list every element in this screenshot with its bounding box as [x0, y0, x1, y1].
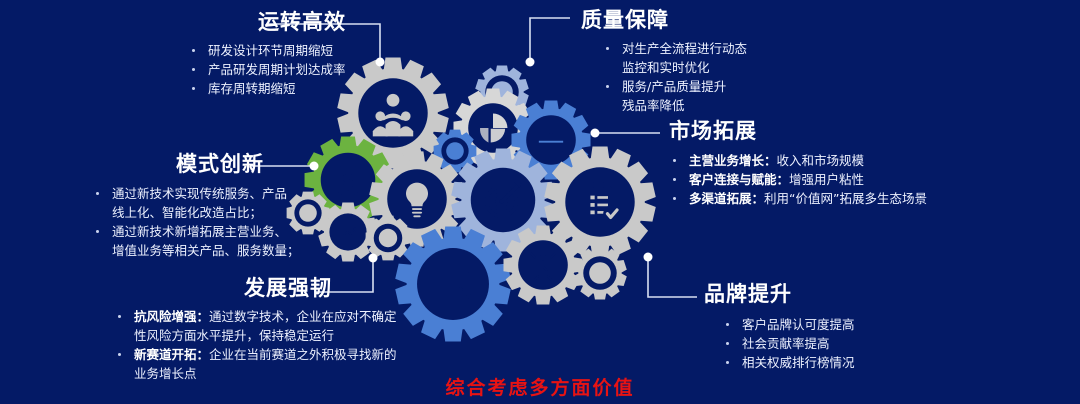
list-item: 新赛道开拓：企业在当前赛道之外积极寻找新的 [112, 346, 397, 363]
infographic-canvas: $ [0, 0, 1080, 404]
svg-text:$: $ [341, 169, 355, 193]
list-item-lead: 新赛道开拓： [134, 347, 209, 362]
section-operation-heading: 运转高效 [258, 6, 346, 36]
list-item: 研发设计环节周期缩短 [186, 42, 346, 59]
section-quality-heading: 质量保障 [581, 4, 747, 34]
wallet-icon [395, 227, 511, 342]
mini-gear-right [573, 246, 627, 299]
section-model-bullets: 通过新技术实现传统服务、产品线上化、智能化改造占比；通过新技术新增拓展主营业务、… [90, 185, 300, 259]
section-operation: 运转高效 研发设计环节周期缩短产品研发周期计划达成率库存周转期缩短 [172, 6, 346, 99]
list-item: 增值业务等相关产品、服务数量； [90, 242, 300, 259]
list-item: 监控和实时优化 [600, 59, 747, 76]
list-item: 客户连接与赋能：增强用户粘性 [667, 171, 927, 188]
list-item: 多渠道拓展：利用“价值网”拓展多生态场景 [667, 190, 927, 207]
mini-gear-mid [366, 216, 411, 261]
list-item: 残品率降低 [600, 97, 747, 114]
section-resilient: 发展强韧 抗风险增强：通过数字技术，企业在应对不确定性风险方面水平提升，保持稳定… [104, 272, 397, 384]
list-item: 对生产全流程进行动态 [600, 40, 747, 57]
list-item-lead: 主营业务增长： [689, 153, 777, 168]
section-brand: 品牌提升 客户品牌认可度提高社会贡献率提高相关权威排行榜情况 [700, 278, 855, 373]
list-item-lead: 抗风险增强： [134, 309, 209, 324]
section-model: 模式创新 通过新技术实现传统服务、产品线上化、智能化改造占比；通过新技术新增拓展… [80, 148, 300, 261]
section-quality: 质量保障 对生产全流程进行动态监控和实时优化服务/产品质量提升残品率降低 [576, 4, 747, 116]
list-item-lead: 客户连接与赋能： [689, 172, 789, 187]
list-item: 相关权威排行榜情况 [720, 354, 855, 371]
section-operation-bullets: 研发设计环节周期缩短产品研发周期计划达成率库存周转期缩短 [186, 42, 346, 97]
section-brand-bullets: 客户品牌认可度提高社会贡献率提高相关权威排行榜情况 [720, 316, 855, 371]
list-item: 通过新技术实现传统服务、产品 [90, 185, 300, 202]
section-market-bullets: 主营业务增长：收入和市场规模客户连接与赋能：增强用户粘性多渠道拓展：利用“价值网… [667, 152, 927, 207]
section-market: 市场拓展 主营业务增长：收入和市场规模客户连接与赋能：增强用户粘性多渠道拓展：利… [663, 115, 927, 209]
section-quality-bullets: 对生产全流程进行动态监控和实时优化服务/产品质量提升残品率降低 [600, 40, 747, 114]
section-market-heading: 市场拓展 [669, 115, 927, 145]
section-resilient-heading: 发展强韧 [244, 272, 397, 302]
bottom-caption: 综合考虑多方面价值 [0, 373, 1080, 400]
list-item-lead: 多渠道拓展： [689, 191, 764, 206]
list-item: 性风险方面水平提升，保持稳定运行 [112, 327, 397, 344]
list-item: 通过新技术新增拓展主营业务、 [90, 223, 300, 240]
list-item: 产品研发周期计划达成率 [186, 61, 346, 78]
list-item: 库存周转期缩短 [186, 80, 346, 97]
list-item: 服务/产品质量提升 [600, 78, 747, 95]
list-item: 主营业务增长：收入和市场规模 [667, 152, 927, 169]
list-item: 线上化、智能化改造占比； [90, 204, 300, 221]
list-item: 客户品牌认可度提高 [720, 316, 855, 333]
list-item: 抗风险增强：通过数字技术，企业在应对不确定 [112, 308, 397, 325]
section-resilient-bullets: 抗风险增强：通过数字技术，企业在应对不确定性风险方面水平提升，保持稳定运行新赛道… [112, 308, 397, 382]
list-item: 社会贡献率提高 [720, 335, 855, 352]
section-brand-heading: 品牌提升 [704, 278, 855, 308]
section-model-heading: 模式创新 [176, 148, 300, 178]
